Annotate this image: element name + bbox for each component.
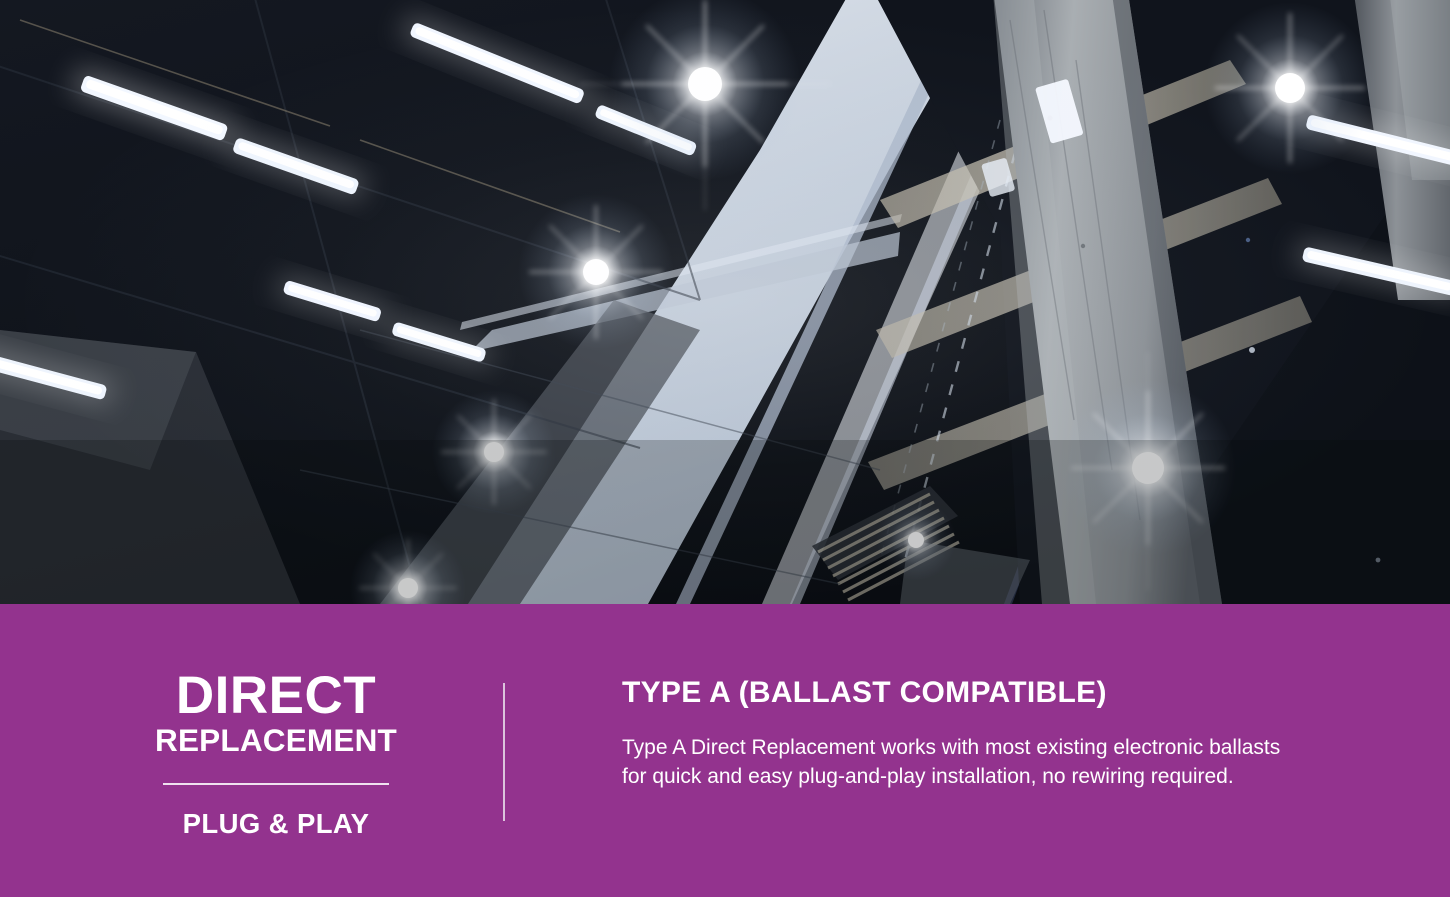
lockup-subtitle: REPLACEMENT bbox=[118, 725, 434, 757]
hero-photo bbox=[0, 0, 1450, 604]
vertical-divider bbox=[503, 683, 505, 821]
lockup-title: DIRECT bbox=[118, 672, 434, 721]
lockup-divider-rule bbox=[163, 783, 389, 785]
product-lockup: DIRECT REPLACEMENT PLUG & PLAY bbox=[118, 672, 434, 838]
warehouse-ceiling-illustration bbox=[0, 0, 1450, 604]
description-heading: TYPE A (BALLAST COMPATIBLE) bbox=[622, 678, 1322, 708]
description-body: Type A Direct Replacement works with mos… bbox=[622, 734, 1290, 791]
lockup-tagline: PLUG & PLAY bbox=[118, 810, 434, 838]
description-block: TYPE A (BALLAST COMPATIBLE) Type A Direc… bbox=[622, 678, 1322, 791]
info-panel: DIRECT REPLACEMENT PLUG & PLAY TYPE A (B… bbox=[0, 604, 1450, 897]
slide-root: DIRECT REPLACEMENT PLUG & PLAY TYPE A (B… bbox=[0, 0, 1450, 897]
